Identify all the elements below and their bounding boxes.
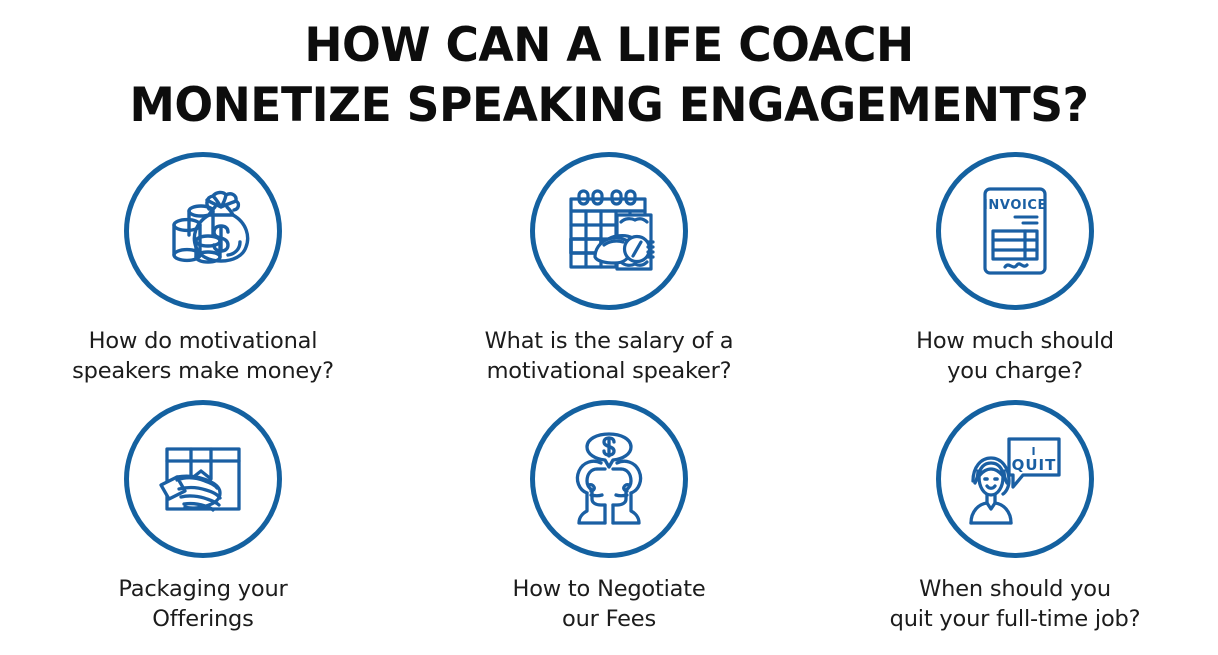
caption-line-1: How do motivational xyxy=(72,326,334,356)
icon-circle: INVOICE xyxy=(936,152,1094,310)
caption-line-1: When should you xyxy=(890,574,1141,604)
card-caption: What is the salary of a motivational spe… xyxy=(485,326,734,386)
card-caption: How to Negotiate our Fees xyxy=(512,574,705,634)
icon-grid: How do motivational speakers make money? xyxy=(0,152,1218,648)
card-caption: How do motivational speakers make money? xyxy=(72,326,334,386)
caption-line-2: Offerings xyxy=(118,604,287,634)
money-bag-coins-icon xyxy=(151,179,255,283)
card-how-to-negotiate-our-fees[interactable]: How to Negotiate our Fees xyxy=(406,400,812,648)
invoice-document-icon: INVOICE xyxy=(963,179,1067,283)
caption-line-2: quit your full-time job? xyxy=(890,604,1141,634)
icon-circle xyxy=(530,152,688,310)
caption-line-1: Packaging your xyxy=(118,574,287,604)
infographic-root: HOW CAN A LIFE COACH MONETIZE SPEAKING E… xyxy=(0,0,1218,655)
card-caption: How much should you charge? xyxy=(916,326,1114,386)
card-how-much-should-you-charge[interactable]: INVOICE How much should you charg xyxy=(812,152,1218,400)
svg-text:QUIT: QUIT xyxy=(1012,456,1057,474)
icon-circle xyxy=(530,400,688,558)
caption-line-2: motivational speaker? xyxy=(485,356,734,386)
icon-circle xyxy=(124,400,282,558)
card-caption: When should you quit your full-time job? xyxy=(890,574,1141,634)
caption-line-2: speakers make money? xyxy=(72,356,334,386)
caption-line-1: How much should xyxy=(916,326,1114,356)
icon-circle xyxy=(124,152,282,310)
card-caption: Packaging your Offerings xyxy=(118,574,287,634)
caption-line-1: What is the salary of a xyxy=(485,326,734,356)
caption-line-2: you charge? xyxy=(916,356,1114,386)
svg-text:INVOICE: INVOICE xyxy=(983,198,1047,213)
icon-circle: I QUIT xyxy=(936,400,1094,558)
calendar-hand-watch-icon xyxy=(557,179,661,283)
package-box-hand-icon xyxy=(151,427,255,531)
card-what-is-the-salary-of-a-motivational-speaker[interactable]: What is the salary of a motivational spe… xyxy=(406,152,812,400)
card-when-should-you-quit-your-full-time-job[interactable]: I QUIT xyxy=(812,400,1218,648)
caption-line-2: our Fees xyxy=(512,604,705,634)
title-line-1: HOW CAN A LIFE COACH xyxy=(18,16,1199,76)
caption-line-1: How to Negotiate xyxy=(512,574,705,604)
person-i-quit-speech-bubble-icon: I QUIT xyxy=(963,427,1067,531)
title-line-2: MONETIZE SPEAKING ENGAGEMENTS? xyxy=(18,76,1199,136)
two-people-dollar-speech-bubble-icon xyxy=(557,427,661,531)
card-packaging-your-offerings[interactable]: Packaging your Offerings xyxy=(0,400,406,648)
page-title: HOW CAN A LIFE COACH MONETIZE SPEAKING E… xyxy=(0,0,1218,136)
card-how-do-motivational-speakers-make-money[interactable]: How do motivational speakers make money? xyxy=(0,152,406,400)
